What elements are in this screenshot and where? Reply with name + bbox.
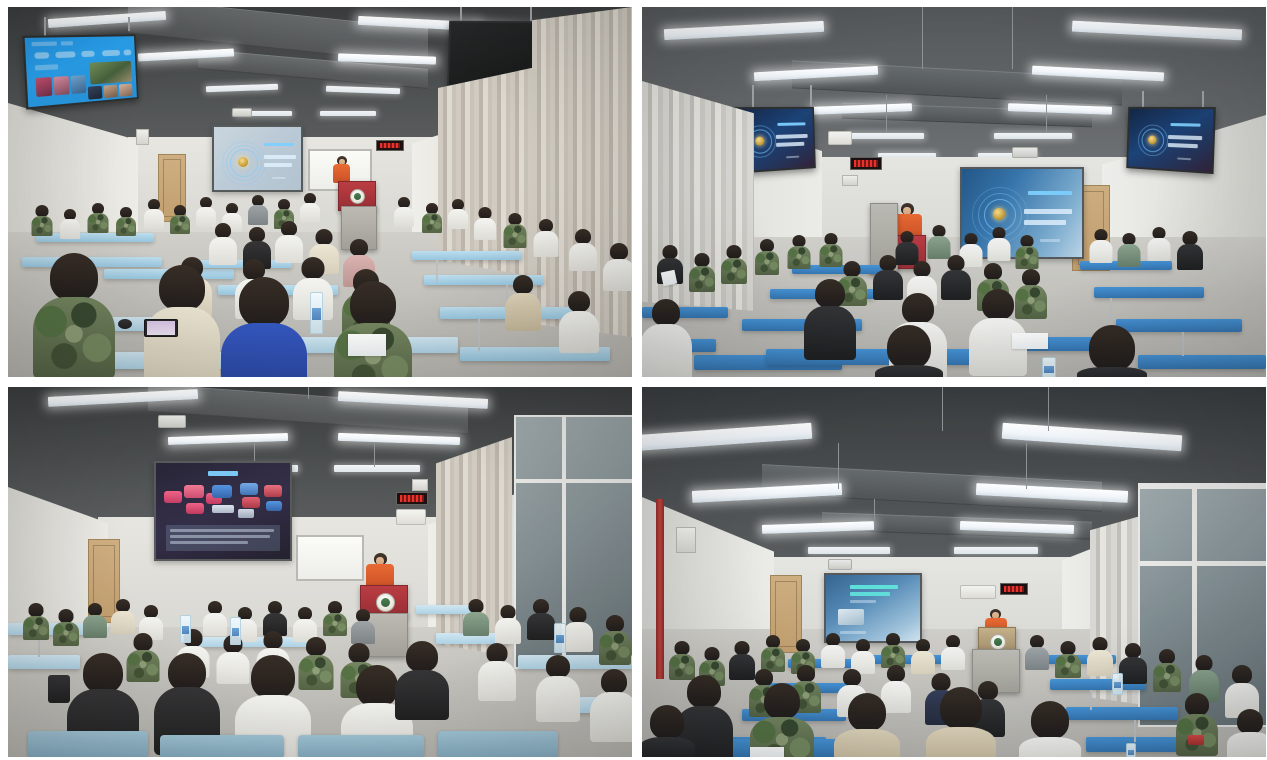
tv-mount — [128, 17, 130, 31]
window-mullion — [1140, 561, 1266, 566]
slide-body-line — [170, 535, 270, 538]
mindmap-node — [212, 485, 232, 498]
wall-speaker — [676, 527, 696, 553]
slide-body-line — [170, 541, 248, 544]
mindmap-node — [184, 485, 204, 498]
hanging-tv-left[interactable] — [22, 34, 138, 109]
desk-leg — [1110, 298, 1112, 320]
student — [32, 205, 52, 235]
desk-leg — [1134, 720, 1136, 742]
red-item-on-chair — [1188, 735, 1204, 745]
student-foreground — [226, 277, 302, 377]
fire-standpipe — [656, 499, 664, 679]
tv-ui-tab[interactable] — [123, 49, 131, 55]
student — [570, 229, 596, 269]
handout-paper — [348, 334, 386, 356]
slide-title-line — [264, 163, 292, 167]
tv-ui-thumb[interactable] — [119, 83, 133, 96]
tv-ui-topbar — [31, 42, 57, 47]
light-hanger — [838, 443, 839, 489]
light-hanger — [1046, 95, 1047, 133]
lecture-room-scene-3 — [8, 387, 632, 757]
drink-bottle — [1126, 743, 1136, 757]
mindmap-node — [264, 485, 282, 497]
student-desk — [412, 251, 522, 260]
light-hanger — [1048, 387, 1049, 431]
student — [1026, 635, 1048, 669]
mindmap-node — [212, 505, 234, 513]
student — [928, 225, 950, 259]
slide-subtitle-line — [272, 177, 286, 179]
chair-back — [28, 731, 148, 757]
tv-ui-thumb[interactable] — [104, 85, 118, 99]
tv-title-line — [776, 142, 804, 147]
student — [264, 601, 286, 635]
student-foreground — [1080, 325, 1144, 377]
photo-panel-bottom-right[interactable] — [642, 387, 1266, 757]
desk-leg — [460, 614, 462, 634]
ceiling-projector — [1012, 147, 1038, 158]
led-text — [380, 143, 401, 149]
student-foreground — [930, 687, 992, 757]
photo-panel-bottom-left[interactable] — [8, 387, 632, 757]
led-display — [1000, 583, 1028, 595]
wall-speaker — [412, 479, 428, 491]
slide-title-line — [1024, 220, 1066, 225]
tv-mount — [810, 85, 812, 107]
water-bottle — [554, 623, 566, 653]
mindmap-node — [240, 483, 258, 495]
student — [248, 195, 268, 225]
student — [496, 605, 520, 643]
student — [84, 603, 106, 637]
led-text — [1004, 586, 1025, 592]
light-hanger — [308, 387, 309, 399]
smartphone[interactable] — [144, 319, 178, 337]
light-hanger — [1026, 443, 1027, 489]
student — [1154, 649, 1180, 691]
tv-ui-thumb[interactable] — [88, 86, 103, 100]
student-desk — [1066, 707, 1178, 720]
slide-heading-highlight — [850, 592, 890, 596]
student — [762, 635, 784, 671]
student — [942, 635, 964, 669]
mindmap-node — [242, 497, 260, 508]
student — [560, 291, 598, 351]
student — [422, 203, 442, 233]
lecture-room-scene-4 — [642, 387, 1266, 757]
slide-subtitle-line — [1040, 239, 1060, 242]
student — [1230, 709, 1266, 757]
water-bottle — [1042, 357, 1056, 377]
student — [170, 205, 190, 233]
chair-back — [438, 731, 558, 757]
student — [600, 615, 630, 663]
student — [538, 655, 578, 719]
student — [988, 227, 1010, 261]
mindmap-node — [164, 491, 182, 503]
mindmap-node — [238, 509, 254, 518]
tv-heading-accent — [1170, 123, 1200, 127]
photo-panel-top-left[interactable] — [8, 7, 632, 377]
light-hanger — [942, 387, 943, 431]
whiteboard — [296, 535, 364, 581]
tv-ui-hero-tile[interactable] — [89, 61, 131, 85]
window-mullion — [1140, 485, 1266, 489]
tv-ui-tab[interactable] — [34, 52, 49, 59]
student — [564, 607, 592, 651]
tv-ui-tab[interactable] — [81, 51, 95, 57]
student — [1016, 235, 1038, 269]
led-display — [396, 492, 428, 505]
tv-heading-accent — [777, 122, 805, 126]
slide-title-line — [1024, 209, 1072, 214]
led-display — [850, 157, 882, 170]
window-mullion — [516, 479, 632, 483]
student — [788, 235, 810, 269]
student — [88, 203, 108, 233]
light-hanger — [886, 95, 887, 133]
student-desk — [1094, 287, 1204, 298]
led-text — [400, 495, 424, 502]
student — [1148, 227, 1170, 261]
student-foreground — [806, 279, 854, 359]
tv-subtitle-line — [1177, 157, 1191, 160]
light-hanger — [874, 499, 875, 525]
tv-ui-topbar — [61, 41, 73, 45]
slide-title-text — [208, 471, 238, 476]
tv-ui-tab[interactable] — [102, 50, 120, 56]
chair-back — [160, 735, 284, 757]
student — [670, 641, 694, 679]
wall-speaker — [842, 175, 858, 186]
tv-title-line — [1168, 143, 1198, 148]
student — [1118, 233, 1140, 267]
student — [1090, 229, 1112, 263]
slide-body-line — [850, 600, 876, 603]
tv-ui-thumb[interactable] — [53, 76, 69, 96]
student — [756, 239, 778, 275]
water-bottle — [180, 615, 191, 643]
water-bottle — [230, 617, 241, 645]
ceiling-projector — [158, 415, 186, 428]
slide-heading-accent — [1028, 191, 1072, 195]
wall-speaker — [136, 129, 149, 145]
ceiling-light — [334, 465, 420, 472]
ceiling-light — [994, 133, 1072, 139]
slide-emblem — [238, 157, 248, 167]
ceiling-light — [954, 547, 1038, 554]
mindmap-node — [186, 503, 204, 514]
student-foreground — [398, 641, 446, 719]
light-hanger — [374, 443, 375, 467]
desk-leg — [478, 319, 480, 351]
student-foreground — [338, 281, 408, 377]
student — [210, 223, 236, 263]
slide-heading-accent — [264, 143, 294, 146]
slide-illustration — [838, 609, 864, 625]
student — [116, 207, 136, 235]
hanging-tv-left[interactable] — [728, 107, 816, 174]
student — [1120, 643, 1146, 683]
handout-paper — [661, 270, 678, 287]
podium-emblem — [376, 593, 395, 612]
slide-body-line — [170, 529, 274, 532]
student — [352, 609, 374, 643]
desk-leg — [1182, 332, 1184, 356]
student — [60, 209, 80, 239]
podium-emblem — [990, 634, 1006, 650]
ceiling-projector — [828, 559, 852, 570]
tv-ui-thumb[interactable] — [71, 75, 87, 94]
hanging-tv-right[interactable] — [1126, 107, 1216, 174]
desk-leg — [436, 260, 438, 282]
desk-leg — [1090, 690, 1092, 710]
student-desk — [36, 233, 154, 242]
student — [534, 219, 558, 255]
projector-screen — [154, 461, 292, 561]
air-conditioner — [828, 131, 852, 145]
student-foreground — [838, 693, 896, 757]
student — [300, 193, 320, 223]
chair-back — [298, 735, 424, 757]
ceiling-light — [808, 547, 890, 554]
student — [54, 609, 78, 645]
projector-screen — [212, 125, 303, 192]
student-foreground — [1022, 701, 1078, 757]
light-hanger — [1012, 7, 1013, 69]
student-foreground — [754, 683, 810, 757]
student — [504, 213, 526, 247]
student — [480, 643, 514, 699]
student — [1088, 637, 1112, 675]
tv-ui-section-label — [35, 64, 58, 70]
student — [394, 197, 414, 227]
student-foreground — [642, 705, 692, 757]
student — [1178, 231, 1202, 269]
student — [324, 601, 346, 635]
lecture-room-scene-2 — [642, 7, 1266, 377]
student — [942, 255, 970, 299]
student — [294, 607, 316, 641]
tv-title-line — [1168, 135, 1202, 140]
student-foreground — [878, 325, 940, 377]
student — [144, 199, 164, 229]
water-bottle — [1112, 673, 1123, 695]
student — [506, 275, 540, 329]
student — [276, 221, 302, 261]
air-conditioner — [396, 509, 426, 525]
ceiling-light — [848, 133, 924, 139]
water-bottle — [310, 292, 323, 334]
air-conditioner — [960, 585, 996, 599]
student-foreground — [642, 299, 690, 377]
photo-collage — [0, 0, 1267, 760]
student — [822, 633, 844, 667]
student — [604, 243, 632, 289]
mindmap-node — [266, 501, 282, 511]
handout-paper — [750, 747, 784, 757]
student — [24, 603, 48, 639]
backpack — [48, 675, 70, 703]
tv-subtitle-line — [786, 156, 799, 159]
tv-ui-tab[interactable] — [55, 51, 75, 58]
student — [882, 633, 904, 667]
student — [474, 207, 496, 239]
student-desk — [1138, 355, 1266, 369]
photo-panel-top-right[interactable] — [642, 7, 1266, 377]
student-foreground — [972, 289, 1024, 375]
slide-emblem — [993, 208, 1005, 220]
student — [912, 639, 934, 673]
student-foreground — [38, 253, 110, 377]
student — [722, 245, 746, 283]
led-text — [854, 160, 878, 167]
podium-emblem — [350, 189, 365, 204]
student — [852, 639, 874, 673]
tv-ui-thumb[interactable] — [36, 77, 53, 97]
light-hanger — [922, 7, 923, 69]
student — [112, 599, 134, 633]
slide-title-line — [264, 155, 296, 159]
student — [1056, 641, 1080, 677]
student — [690, 253, 714, 291]
student — [592, 669, 632, 739]
student — [528, 599, 554, 639]
notebook — [1012, 333, 1048, 349]
student — [464, 599, 488, 635]
slide-heading-highlight — [850, 585, 898, 589]
backpack — [118, 319, 132, 329]
student-desk — [8, 655, 80, 669]
ceiling-light — [320, 111, 376, 116]
ceiling-projector — [232, 108, 252, 117]
lecture-room-scene-1 — [8, 7, 632, 377]
student — [448, 199, 468, 229]
led-display — [376, 140, 404, 151]
tv-title-line — [776, 134, 808, 139]
